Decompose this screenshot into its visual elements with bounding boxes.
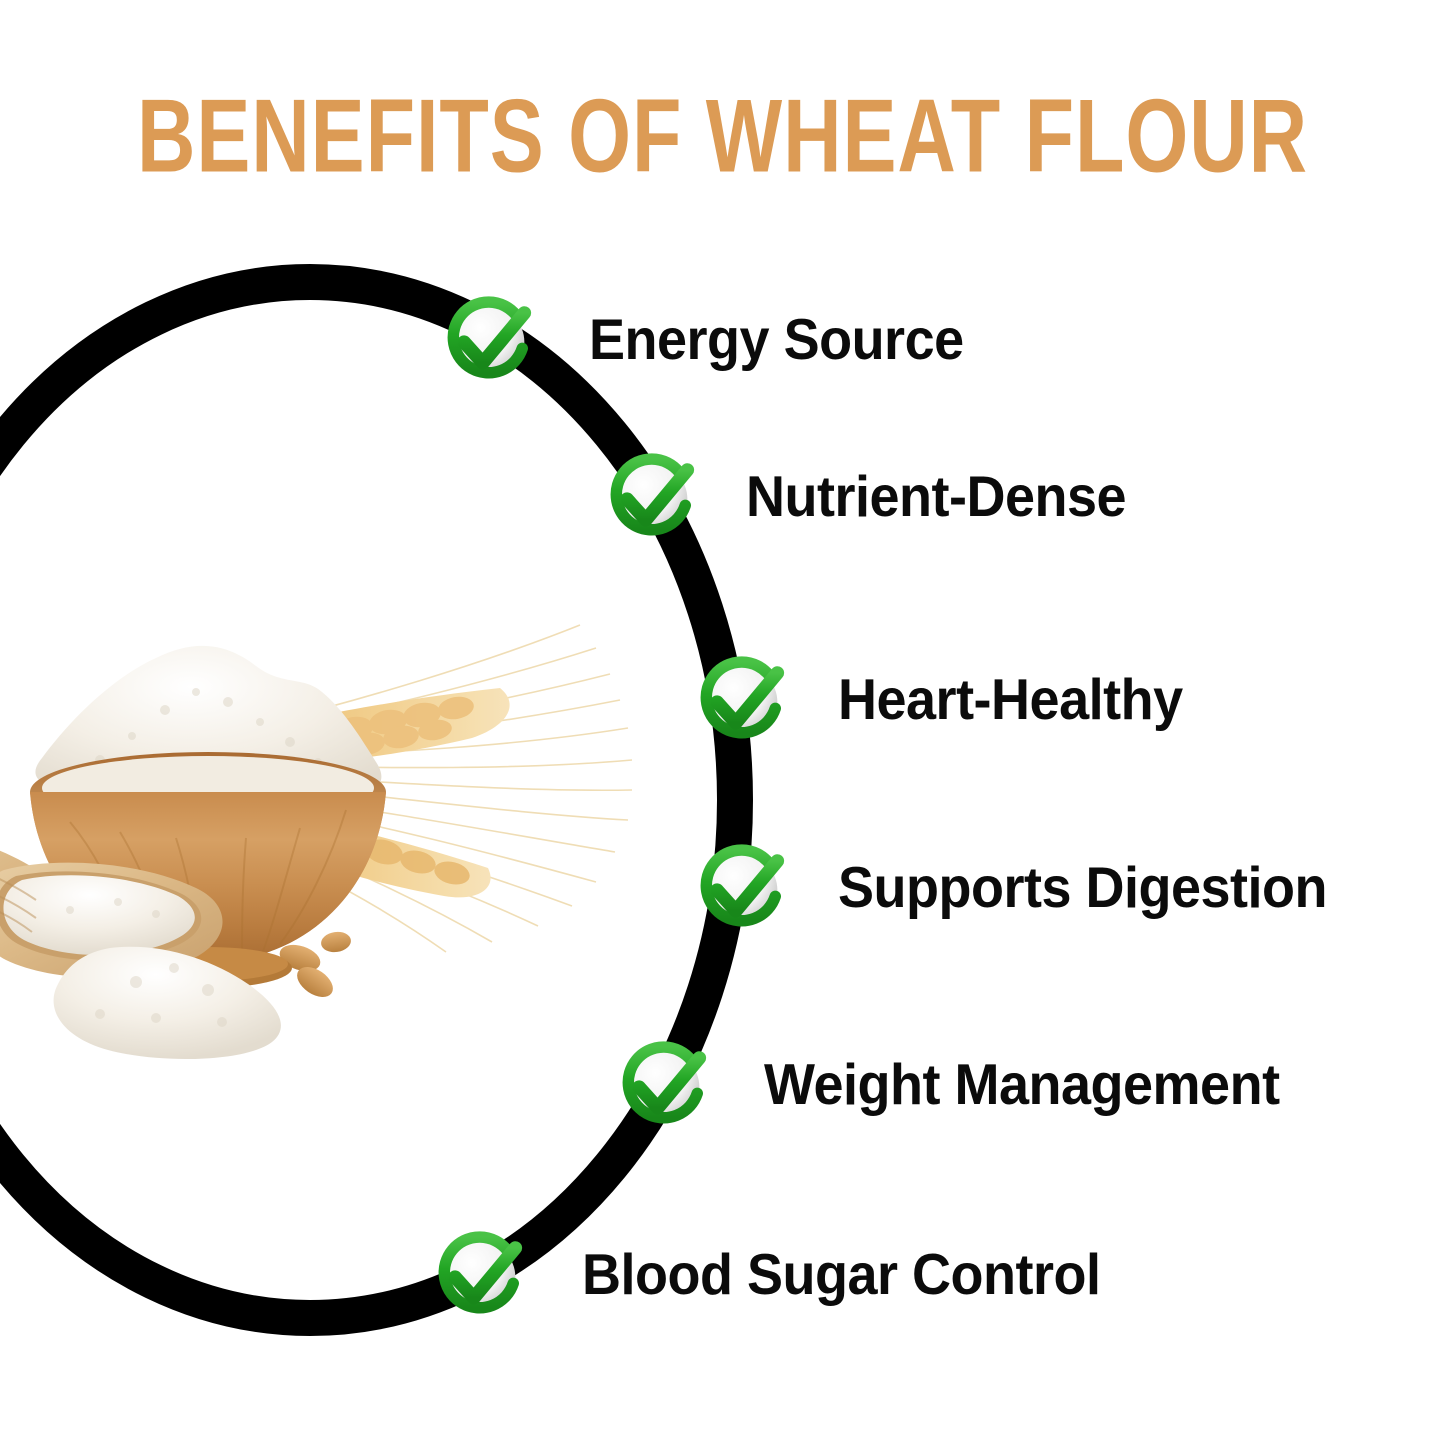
benefit-item-supports-digestion[interactable]: Supports Digestion bbox=[690, 833, 1327, 943]
benefit-item-blood-sugar-control[interactable]: Blood Sugar Control bbox=[428, 1220, 1100, 1330]
green-check-icon bbox=[600, 445, 704, 549]
green-check-icon bbox=[437, 288, 541, 392]
benefit-label: Supports Digestion bbox=[838, 855, 1327, 921]
green-check-icon bbox=[612, 1033, 716, 1137]
wheat-flour-illustration bbox=[0, 570, 700, 1070]
benefit-item-nutrient-dense[interactable]: Nutrient-Dense bbox=[600, 442, 1126, 552]
benefit-label: Heart-Healthy bbox=[838, 667, 1183, 733]
benefit-item-energy-source[interactable]: Energy Source bbox=[437, 285, 964, 395]
benefit-label: Weight Management bbox=[764, 1052, 1280, 1118]
benefit-item-heart-healthy[interactable]: Heart-Healthy bbox=[690, 645, 1183, 755]
benefit-label: Blood Sugar Control bbox=[582, 1242, 1100, 1308]
benefit-item-weight-management[interactable]: Weight Management bbox=[612, 1030, 1280, 1140]
page-title: BENEFITS OF WHEAT FLOUR bbox=[58, 84, 1387, 188]
benefit-label: Nutrient-Dense bbox=[746, 464, 1126, 530]
benefit-label: Energy Source bbox=[589, 307, 964, 373]
infographic-poster: BENEFITS OF WHEAT FLOUR bbox=[0, 0, 1445, 1445]
green-check-icon bbox=[428, 1223, 532, 1327]
wheat-flour-photo bbox=[0, 570, 700, 1070]
green-check-icon bbox=[690, 648, 794, 752]
green-check-icon bbox=[690, 836, 794, 940]
